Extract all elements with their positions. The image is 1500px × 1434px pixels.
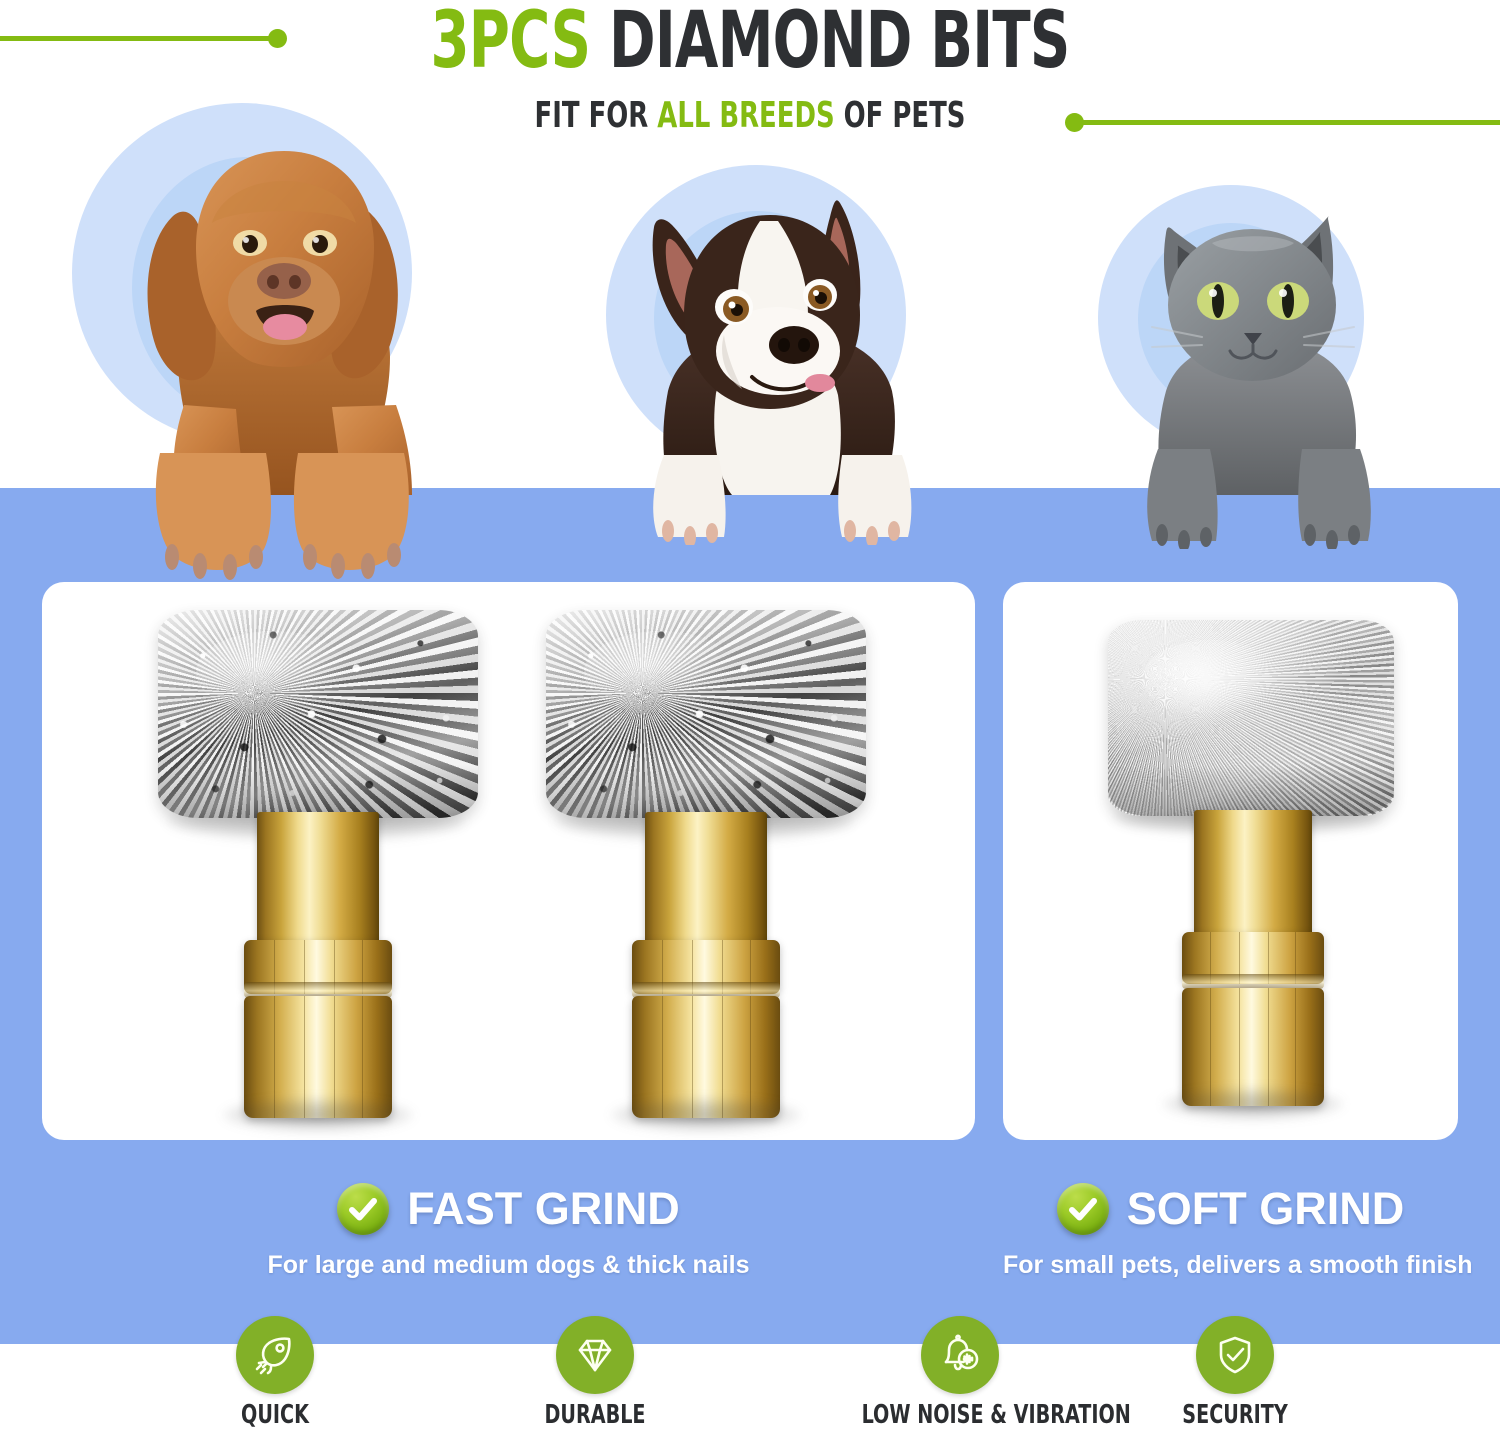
soft-grind-subtitle: For small pets, delivers a smooth finish xyxy=(1003,1250,1458,1280)
fast-grind-heading: FAST GRIND xyxy=(42,1178,975,1240)
title-rest: DIAMOND BITS xyxy=(609,0,1069,86)
diamond-bit-coarse-1 xyxy=(140,600,500,1140)
soft-grind-heading: SOFT GRIND xyxy=(1003,1178,1458,1240)
feature-low-noise: LOW NOISE & VIBRATION xyxy=(840,1316,1080,1430)
diamond-bit-fine-1 xyxy=(1090,608,1420,1138)
feature-quick: QUICK xyxy=(185,1316,365,1430)
fast-grind-title: FAST GRIND xyxy=(407,1185,680,1233)
bit-head-coarse xyxy=(546,610,866,818)
rocket-icon xyxy=(236,1316,314,1394)
page-title: 3PCS DIAMOND BITS xyxy=(150,2,1350,80)
subtitle-post: OF PETS xyxy=(835,95,966,136)
bit-shank xyxy=(257,812,379,946)
feature-row: QUICK DURABLE xyxy=(0,1316,1500,1434)
bit-shank xyxy=(645,812,767,946)
bit-head-coarse xyxy=(158,610,478,818)
header: 3PCS DIAMOND BITS FIT FOR ALL BREEDS OF … xyxy=(0,0,1500,150)
subtitle-highlight: ALL BREEDS xyxy=(657,95,834,136)
title-highlight: 3PCS xyxy=(431,0,591,86)
fast-grind-subtitle: For large and medium dogs & thick nails xyxy=(42,1250,975,1280)
soft-grind-title: SOFT GRIND xyxy=(1127,1185,1405,1233)
page-subtitle: FIT FOR ALL BREEDS OF PETS xyxy=(150,96,1350,136)
feature-label: QUICK xyxy=(201,1400,349,1430)
feature-security: SECURITY xyxy=(1140,1316,1330,1430)
pets-band xyxy=(0,95,1500,495)
bell-sound-icon xyxy=(921,1316,999,1394)
feature-label: LOW NOISE & VIBRATION xyxy=(862,1400,1059,1430)
bit-shank xyxy=(1194,810,1312,938)
pet-vizsla-dog xyxy=(60,95,480,495)
check-icon xyxy=(337,1183,389,1235)
diamond-bit-coarse-2 xyxy=(528,600,888,1140)
shield-check-icon xyxy=(1196,1316,1274,1394)
pet-gray-cat xyxy=(1082,177,1472,495)
feature-label: SECURITY xyxy=(1157,1400,1313,1430)
feature-durable: DURABLE xyxy=(505,1316,685,1430)
subtitle-pre: FIT FOR xyxy=(535,95,658,136)
feature-label: DURABLE xyxy=(521,1400,669,1430)
check-icon xyxy=(1057,1183,1109,1235)
bit-head-fine xyxy=(1108,620,1394,816)
diamond-icon xyxy=(556,1316,634,1394)
pet-boston-terrier-dog xyxy=(592,155,992,495)
product-infographic: 3PCS DIAMOND BITS FIT FOR ALL BREEDS OF … xyxy=(0,0,1500,1434)
